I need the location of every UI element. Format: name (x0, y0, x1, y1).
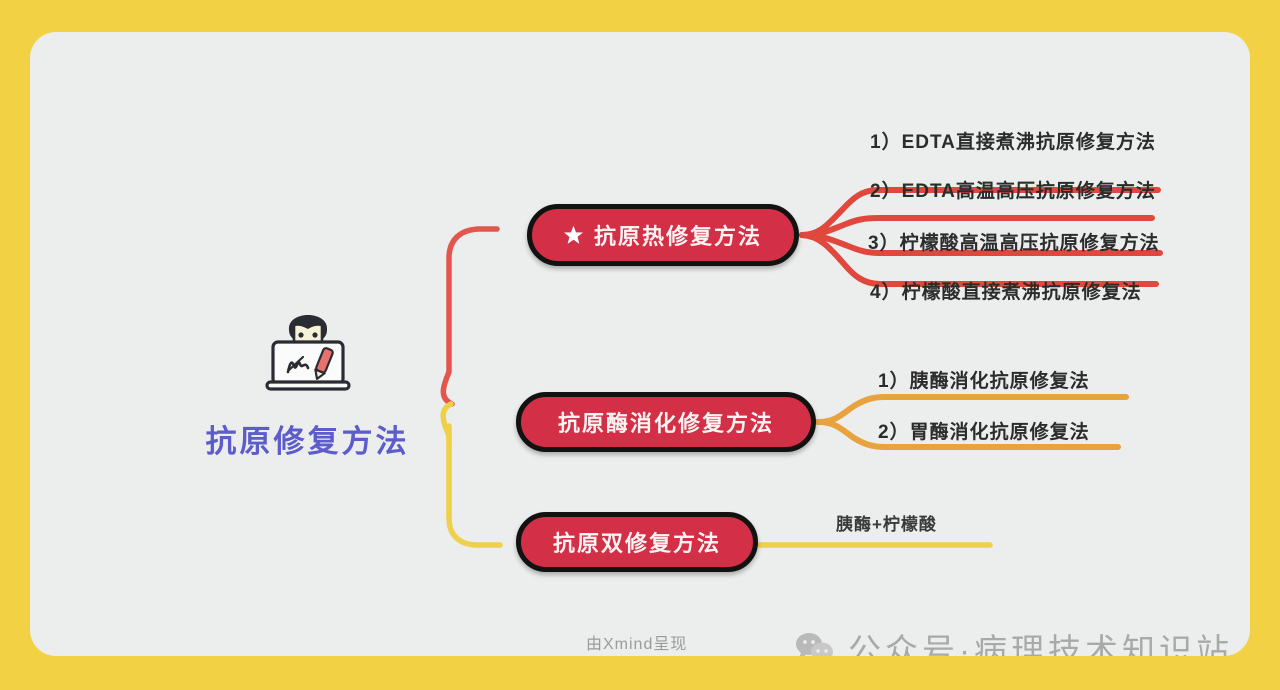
branch-node-enzyme[interactable]: 抗原酶消化修复方法 (516, 392, 816, 452)
star-icon (564, 226, 583, 245)
xmind-credit: 由Xmind呈现 (586, 630, 687, 654)
leaf-heat-3[interactable]: 3）柠檬酸高温高压抗原修复方法 (868, 228, 1160, 255)
leaf-heat-1[interactable]: 1）EDTA直接煮沸抗原修复方法 (870, 127, 1156, 154)
branch-node-heat[interactable]: 抗原热修复方法 (527, 204, 799, 266)
wechat-icon (795, 632, 835, 656)
leaf-heat-2[interactable]: 2）EDTA高温高压抗原修复方法 (870, 176, 1156, 203)
branch-node-heat-label: 抗原热修复方法 (594, 219, 762, 251)
leaf-enzyme-2[interactable]: 2）胃酶消化抗原修复法 (878, 417, 1090, 444)
watermark: 公众号·病理技术知识站 (795, 624, 1233, 656)
leaf-enzyme-1[interactable]: 1）胰酶消化抗原修复法 (878, 366, 1090, 393)
leaf-heat-4[interactable]: 4）柠檬酸直接煮沸抗原修复法 (870, 277, 1142, 304)
watermark-text: 公众号·病理技术知识站 (848, 624, 1233, 656)
leaf-dual-1[interactable]: 胰酶+柠檬酸 (836, 510, 937, 535)
branch-node-dual[interactable]: 抗原双修复方法 (516, 512, 758, 572)
root-illustration (253, 302, 363, 402)
link-root-to-dual (443, 404, 500, 545)
root-node[interactable]: 抗原修复方法 (200, 302, 415, 461)
mindmap-canvas: 抗原修复方法 抗原热修复方法 抗原酶消化修复方法 抗原双修复方法 1）EDTA直… (30, 32, 1250, 656)
branch-node-enzyme-label: 抗原酶消化修复方法 (558, 406, 774, 438)
branch-node-dual-label: 抗原双修复方法 (553, 526, 721, 558)
link-root-to-heat (443, 229, 497, 404)
root-title: 抗原修复方法 (200, 416, 415, 461)
person-whiteboard-pencil-icon (253, 302, 363, 402)
